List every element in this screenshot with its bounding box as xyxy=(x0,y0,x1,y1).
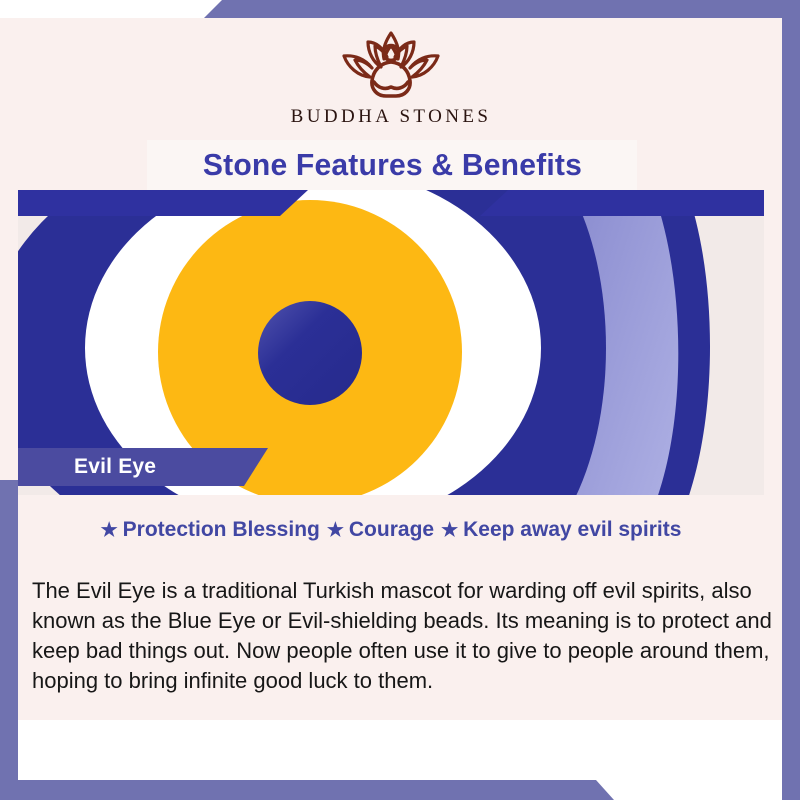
stone-name-label: Evil Eye xyxy=(74,455,156,479)
benefit-label: Courage xyxy=(349,518,434,542)
decor-top-band xyxy=(0,0,800,18)
benefit-item: ★ Protection Blessing xyxy=(101,518,320,542)
infographic-poster: BUDDHA STONES xyxy=(0,0,800,800)
star-icon: ★ xyxy=(441,521,458,540)
decor-left-strip xyxy=(0,480,18,800)
lotus-meditation-figure-logo-icon xyxy=(316,26,466,104)
page-title: Stone Features & Benefits xyxy=(202,147,581,183)
brand-name: BUDDHA STONES xyxy=(291,106,492,128)
title-wing-right xyxy=(480,190,764,216)
decor-right-strip xyxy=(782,18,800,800)
benefit-item: ★ Courage xyxy=(327,518,434,542)
title-wing-left xyxy=(18,190,308,216)
decor-bottom-band xyxy=(0,780,800,800)
page-title-plate: Stone Features & Benefits xyxy=(147,140,637,190)
brand-header: BUDDHA STONES xyxy=(0,18,782,145)
benefits-row: ★ Protection Blessing ★ Courage ★ Keep a… xyxy=(18,518,764,542)
stone-name-banner: Evil Eye xyxy=(18,448,268,486)
benefit-label: Keep away evil spirits xyxy=(463,518,681,542)
stone-description: The Evil Eye is a traditional Turkish ma… xyxy=(32,576,772,696)
star-icon: ★ xyxy=(101,521,118,540)
star-icon: ★ xyxy=(327,521,344,540)
benefit-item: ★ Keep away evil spirits xyxy=(441,518,681,542)
benefit-label: Protection Blessing xyxy=(123,518,320,542)
